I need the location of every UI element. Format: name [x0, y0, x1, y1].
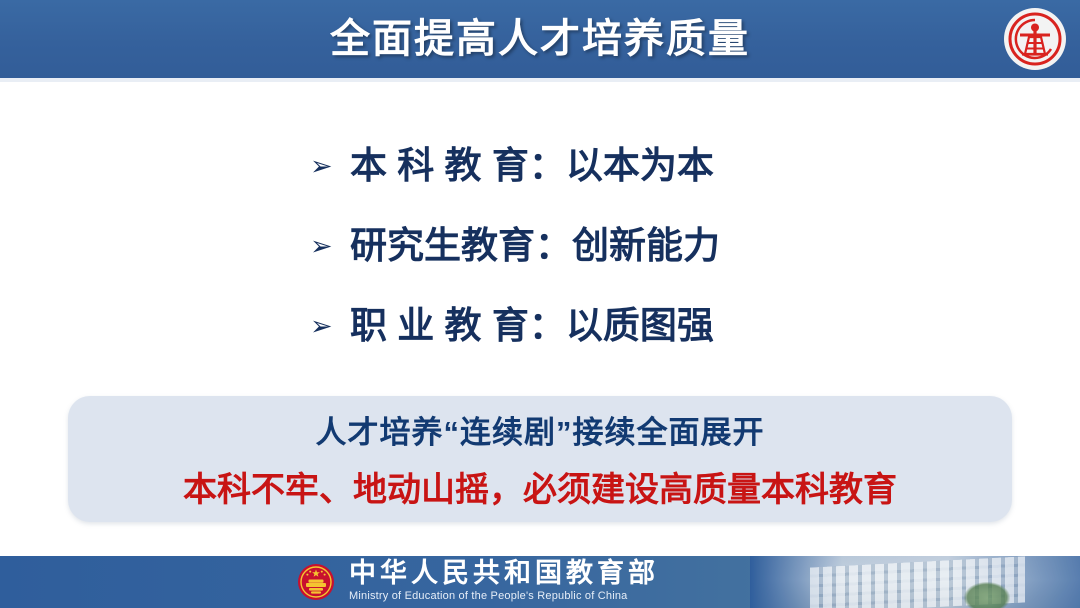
page-title: 全面提高人才培养质量	[0, 10, 1080, 68]
arrow-bullet-icon: ➢	[310, 233, 350, 260]
bullet-item-vocational: ➢ 职 业 教 育：以质图强	[310, 286, 1010, 366]
footer-brand: 中华人民共和国教育部 Ministry of Education of the …	[297, 559, 659, 605]
brand-logo	[1004, 8, 1066, 70]
arrow-bullet-icon: ➢	[310, 313, 350, 340]
callout-line-primary: 人才培养“连续剧”接续全面展开	[316, 407, 765, 452]
callout-box: 人才培养“连续剧”接续全面展开 本科不牢、地动山摇，必须建设高质量本科教育	[68, 396, 1012, 522]
footer-ministry-name-cn: 中华人民共和国教育部	[349, 559, 659, 587]
bullet-label-vocational: 职 业 教 育：以质图强	[350, 306, 714, 347]
slide-root: 全面提高人才培养质量 ➢ 本 科 教 育：以本为本 ➢ 研究生教育：创新能力 ➢…	[0, 0, 1080, 608]
callout-line-emphasis: 本科不牢、地动山摇，必须建设高质量本科教育	[183, 462, 897, 511]
bullet-label-graduate: 研究生教育：创新能力	[350, 226, 720, 267]
bullet-label-undergraduate: 本 科 教 育：以本为本	[350, 146, 714, 187]
bullet-item-graduate: ➢ 研究生教育：创新能力	[310, 206, 1010, 286]
footer-text-block: 中华人民共和国教育部 Ministry of Education of the …	[349, 559, 659, 605]
arrow-bullet-icon: ➢	[310, 153, 350, 180]
footer-center: 中华人民共和国教育部 Ministry of Education of the …	[0, 556, 1080, 608]
footer-ministry-name-en: Ministry of Education of the People's Re…	[349, 589, 659, 604]
red-circular-tower-emblem-icon	[1006, 10, 1064, 68]
footer-band: 中华人民共和国教育部 Ministry of Education of the …	[0, 556, 1080, 608]
bullet-list: ➢ 本 科 教 育：以本为本 ➢ 研究生教育：创新能力 ➢ 职 业 教 育：以质…	[310, 126, 1010, 366]
header-underline	[0, 78, 1080, 82]
china-national-emblem-icon	[297, 563, 335, 601]
bullet-item-undergraduate: ➢ 本 科 教 育：以本为本	[310, 126, 1010, 206]
